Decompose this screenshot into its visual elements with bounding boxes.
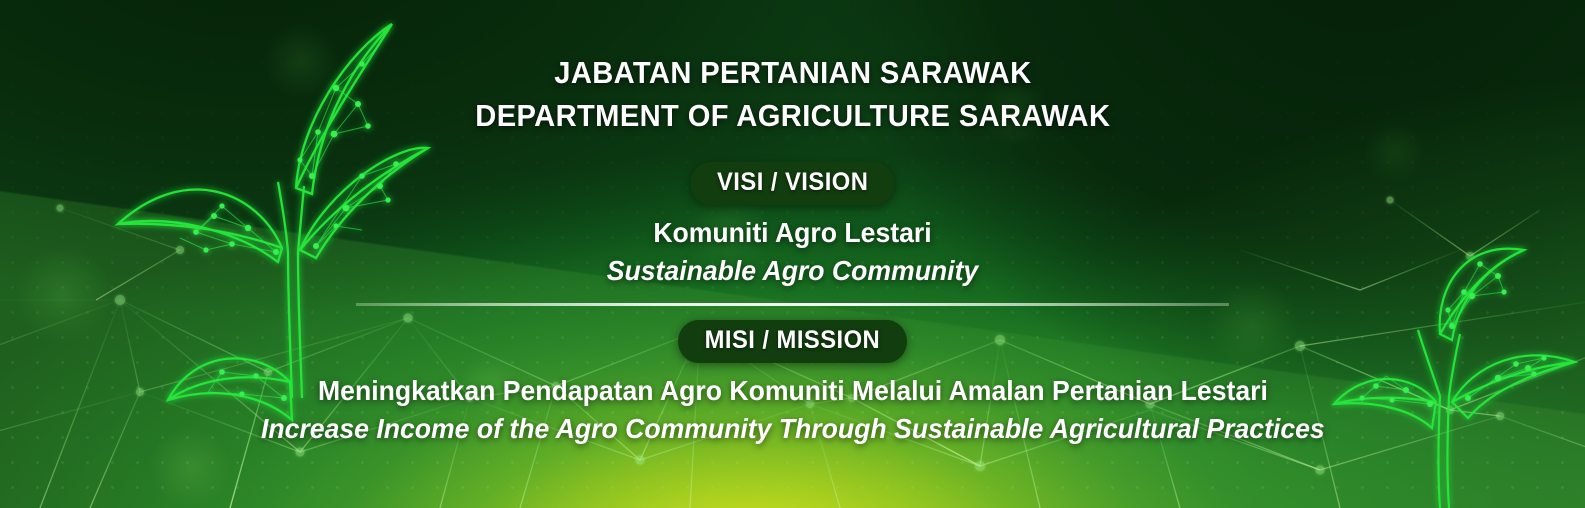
mission-text-en: Increase Income of the Agro Community Th… bbox=[261, 413, 1325, 445]
mission-text-bm: Meningkatkan Pendapatan Agro Komuniti Me… bbox=[318, 375, 1268, 407]
vision-mission-banner: JABATAN PERTANIAN SARAWAK DEPARTMENT OF … bbox=[0, 0, 1585, 508]
section-divider bbox=[356, 303, 1229, 306]
vision-badge: VISI / VISION bbox=[690, 162, 895, 205]
org-title-bm: JABATAN PERTANIAN SARAWAK bbox=[554, 52, 1031, 95]
vision-text-en: Sustainable Agro Community bbox=[607, 255, 978, 287]
mission-badge: MISI / MISSION bbox=[678, 320, 907, 363]
banner-content: JABATAN PERTANIAN SARAWAK DEPARTMENT OF … bbox=[0, 0, 1585, 508]
org-title-en: DEPARTMENT OF AGRICULTURE SARAWAK bbox=[475, 95, 1110, 138]
vision-text-bm: Komuniti Agro Lestari bbox=[653, 217, 931, 249]
